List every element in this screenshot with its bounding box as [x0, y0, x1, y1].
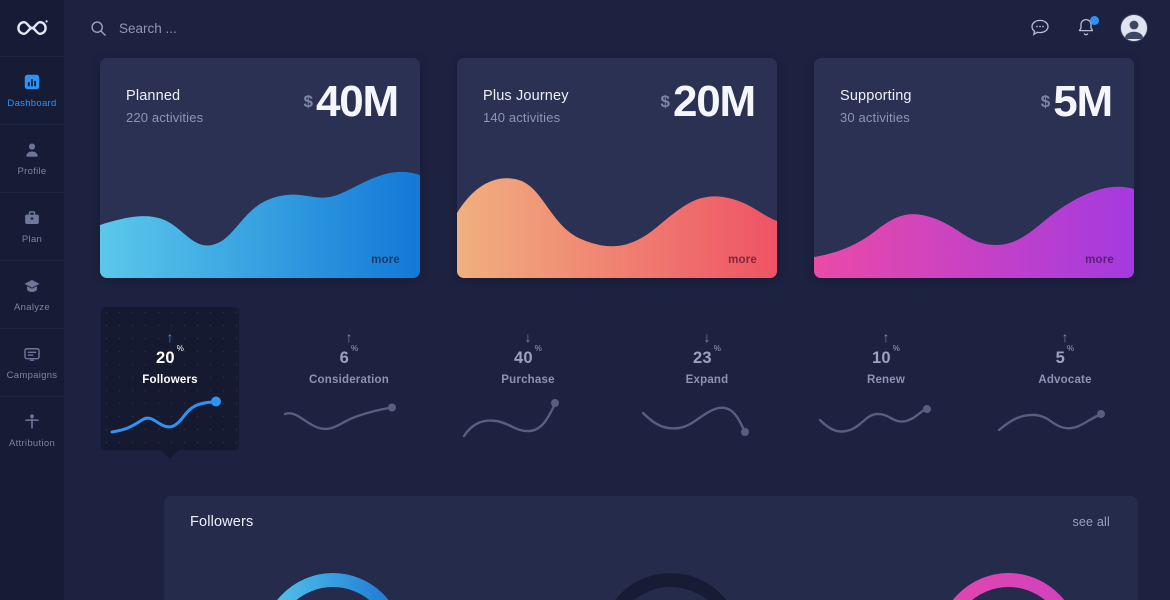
metric-sparkline [100, 388, 240, 443]
metric-value: 20% [156, 349, 184, 368]
search-icon [90, 20, 107, 37]
sidebar-item-label: Campaigns [7, 370, 58, 381]
metric-label: Purchase [501, 374, 554, 386]
metric-renew[interactable]: ↑ 10% Renew [816, 306, 956, 451]
stat-card-value: 20M [673, 80, 755, 124]
panel-title: Followers [190, 514, 253, 530]
notification-badge [1090, 16, 1099, 25]
ring-blue [265, 580, 400, 600]
sidebar-item-label: Attribution [9, 438, 55, 449]
metric-value: 40% [514, 349, 542, 368]
followers-panel: Followers see all [164, 496, 1138, 600]
stat-card-supporting[interactable]: Supporting 30 activities $ 5M more [814, 58, 1134, 278]
trend-up-arrow-icon: ↑ [883, 330, 890, 344]
sidebar-item-dashboard[interactable]: Dashboard [0, 56, 64, 124]
metric-number: 23 [693, 349, 712, 367]
metric-sparkline [458, 388, 598, 443]
stat-card-currency: $ [1041, 92, 1050, 112]
metric-unit: % [893, 344, 900, 353]
metric-unit: % [1067, 344, 1074, 353]
metric-number: 40 [514, 349, 533, 367]
sidebar-item-label: Profile [17, 166, 46, 177]
stat-card-plus-journey[interactable]: Plus Journey 140 activities $ 20M more [457, 58, 777, 278]
trend-down-arrow-icon: ↓ [525, 330, 532, 344]
stat-card-value: 5M [1053, 80, 1112, 124]
metric-sparkline [995, 388, 1135, 443]
metric-number: 10 [872, 349, 891, 367]
person-arms-icon [23, 413, 41, 431]
stat-card-amount: $ 5M [1041, 80, 1112, 124]
bar-chart-icon [23, 73, 41, 91]
stat-card-currency: $ [661, 92, 670, 112]
stat-card-value: 40M [316, 80, 398, 124]
sidebar-item-attribution[interactable]: Attribution [0, 396, 64, 464]
sidebar-nav: Dashboard Profile Plan [0, 56, 64, 464]
search-box[interactable] [90, 20, 1018, 37]
sidebar: Dashboard Profile Plan [0, 0, 64, 600]
main-content: Planned 220 activities $ 40M more [64, 0, 1170, 600]
metric-expand[interactable]: ↓ 23% Expand [637, 306, 777, 451]
metric-number: 6 [340, 349, 349, 367]
notifications-button[interactable] [1074, 16, 1098, 40]
sidebar-item-campaigns[interactable]: Campaigns [0, 328, 64, 396]
stat-cards-row: Planned 220 activities $ 40M more [64, 56, 1170, 278]
see-all-link[interactable]: see all [1072, 515, 1110, 529]
metric-label: Advocate [1038, 374, 1091, 386]
metric-number: 20 [156, 349, 175, 367]
sidebar-item-label: Analyze [14, 302, 50, 313]
trend-up-arrow-icon: ↑ [346, 330, 353, 344]
stat-card-planned[interactable]: Planned 220 activities $ 40M more [100, 58, 420, 278]
metric-label: Consideration [309, 374, 389, 386]
metric-unit: % [535, 344, 542, 353]
sidebar-item-label: Plan [22, 234, 42, 245]
stat-card-amount: $ 20M [661, 80, 755, 124]
metric-advocate[interactable]: ↑ 5% Advocate [995, 306, 1135, 451]
metric-value: 10% [872, 349, 900, 368]
stat-card-amount: $ 40M [304, 80, 398, 124]
graduation-cap-icon [23, 277, 41, 295]
dashboard-app: Dashboard Profile Plan [0, 0, 1170, 600]
metric-value: 6% [340, 349, 359, 368]
monitor-icon [23, 345, 41, 363]
sidebar-item-profile[interactable]: Profile [0, 124, 64, 192]
stat-card-more-link[interactable]: more [371, 254, 400, 266]
metrics-strip: ↑ 20% Followers ↑ 6% Consideration [64, 306, 1170, 451]
metric-value: 23% [693, 349, 721, 368]
briefcase-icon [23, 209, 41, 227]
sidebar-item-plan[interactable]: Plan [0, 192, 64, 260]
trend-up-arrow-icon: ↑ [1062, 330, 1069, 344]
metric-purchase[interactable]: ↓ 40% Purchase [458, 306, 598, 451]
infinity-logo-icon [15, 18, 49, 38]
metric-unit: % [177, 344, 184, 353]
avatar-icon [1121, 15, 1147, 41]
trend-up-arrow-icon: ↑ [167, 330, 174, 344]
metric-followers[interactable]: ↑ 20% Followers [100, 306, 240, 451]
metric-label: Renew [867, 374, 905, 386]
metric-consideration[interactable]: ↑ 6% Consideration [279, 306, 419, 451]
trend-down-arrow-icon: ↓ [704, 330, 711, 344]
topbar [64, 0, 1170, 56]
user-icon [23, 141, 41, 159]
followers-rings [164, 542, 1138, 600]
sidebar-item-analyze[interactable]: Analyze [0, 260, 64, 328]
metric-unit: % [351, 344, 358, 353]
stat-card-currency: $ [304, 92, 313, 112]
stat-card-more-link[interactable]: more [1085, 254, 1114, 266]
panel-header: Followers see all [164, 496, 1138, 530]
ring-pink [941, 580, 1076, 600]
metric-number: 5 [1056, 349, 1065, 367]
metric-sparkline [279, 388, 419, 443]
search-input[interactable] [119, 21, 419, 36]
topbar-actions [1028, 14, 1148, 42]
metric-label: Expand [686, 374, 729, 386]
metric-sparkline [816, 388, 956, 443]
app-logo[interactable] [0, 0, 64, 56]
metric-value: 5% [1056, 349, 1075, 368]
metric-sparkline [637, 388, 777, 443]
chat-bubble-icon [1028, 16, 1052, 40]
ring-orange-track [603, 580, 738, 600]
sidebar-item-label: Dashboard [7, 98, 56, 109]
metric-unit: % [714, 344, 721, 353]
avatar[interactable] [1120, 14, 1148, 42]
messages-button[interactable] [1028, 16, 1052, 40]
metric-label: Followers [142, 374, 197, 386]
stat-card-more-link[interactable]: more [728, 254, 757, 266]
